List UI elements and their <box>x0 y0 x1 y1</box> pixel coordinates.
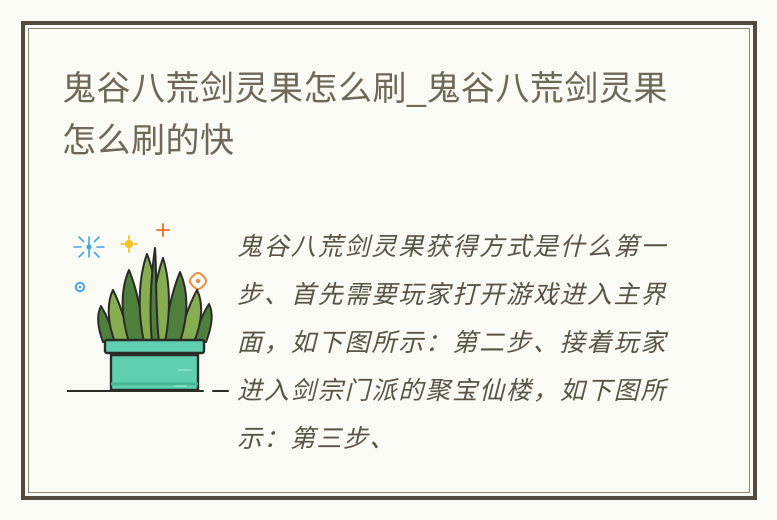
circle-sparkle-icon <box>76 283 84 291</box>
dot-sparkle-icon <box>121 236 137 252</box>
article-paragraph: 鬼谷八荒剑灵果获得方式是什么第一步、首先需要玩家打开游戏进入主界面，如下图所示：… <box>237 224 667 464</box>
potted-plant-illustration <box>67 214 242 399</box>
plant-leaves <box>98 248 211 342</box>
article-card-inner-border: 鬼谷八荒剑灵果怎么刷_鬼谷八荒剑灵果怎么刷的快 <box>28 28 750 493</box>
plus-sparkle-icon <box>157 224 169 236</box>
flower-sparkle-icon <box>190 273 206 289</box>
snowflake-sparkle-icon <box>74 237 104 257</box>
article-card: 鬼谷八荒剑灵果怎么刷_鬼谷八荒剑灵果怎么刷的快 <box>21 21 757 500</box>
page-title: 鬼谷八荒剑灵果怎么刷_鬼谷八荒剑灵果怎么刷的快 <box>62 63 692 167</box>
article-body: 鬼谷八荒剑灵果获得方式是什么第一步、首先需要玩家打开游戏进入主界面，如下图所示：… <box>29 194 749 492</box>
plant-pot <box>105 340 204 390</box>
